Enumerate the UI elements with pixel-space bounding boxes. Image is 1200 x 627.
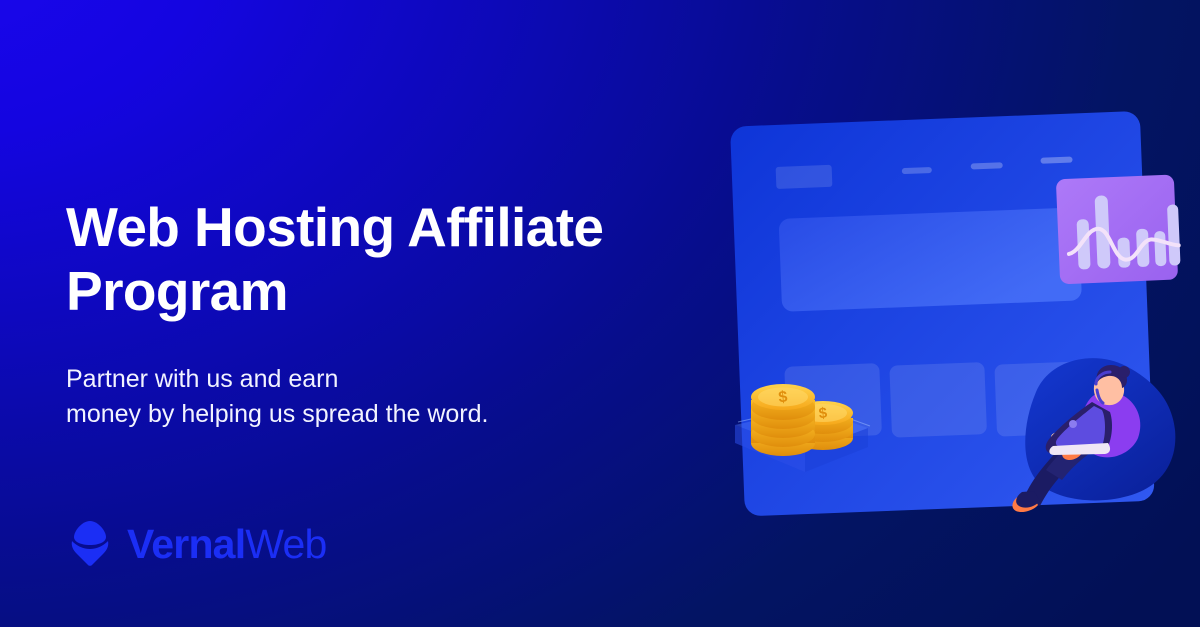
coin-dollar-symbol-left: $ (778, 389, 789, 407)
logo-wordmark: VernalWeb (127, 524, 326, 565)
chart-card-bg (1056, 174, 1178, 284)
logo-word-vernal: Vernal (127, 521, 245, 567)
nav-link-1[interactable] (902, 167, 932, 174)
person-hair-bun (1118, 366, 1130, 378)
vernalweb-logo[interactable]: VernalWeb (66, 519, 326, 569)
nav-link-3[interactable] (1040, 157, 1072, 164)
page-title: Web Hosting Affiliate Program (66, 196, 666, 324)
page-subtitle: Partner with us and earn money by helpin… (66, 362, 666, 433)
laptop-logo-icon (1069, 420, 1077, 428)
copy-block: Web Hosting Affiliate Program Partner wi… (66, 196, 666, 433)
content-card-2 (889, 362, 987, 438)
nav-link-2[interactable] (971, 162, 1003, 169)
logo-word-web: Web (245, 521, 326, 567)
analytics-chart-card (1056, 174, 1181, 284)
coin-stack-left: $ (751, 384, 815, 456)
affiliate-banner: $ $ Web Hosting Affiliate Program Partne… (0, 0, 1200, 627)
hero-content-block (779, 207, 1082, 311)
nav-logo-placeholder (776, 165, 833, 189)
layered-diamond-icon (66, 519, 114, 569)
